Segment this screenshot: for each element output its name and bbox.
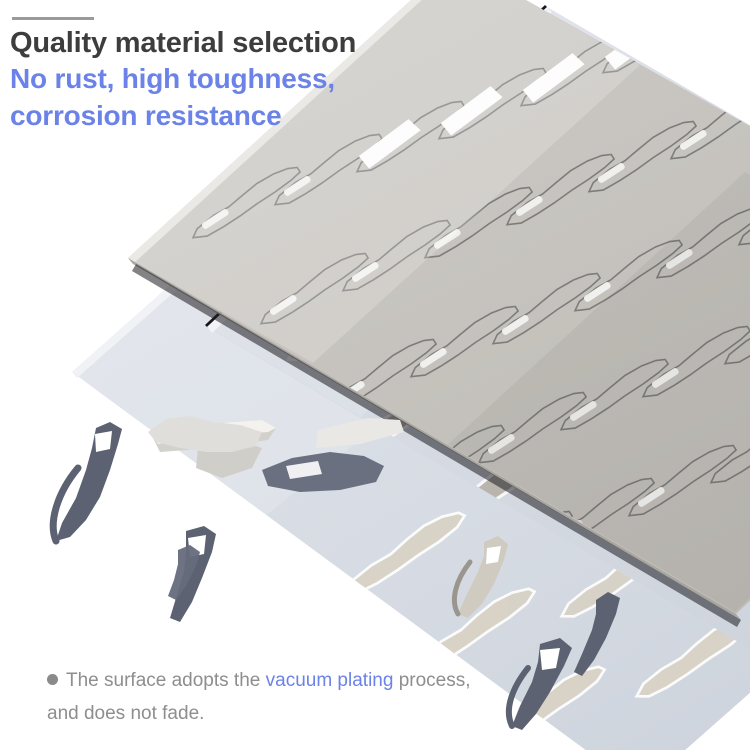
caption-highlight: vacuum plating: [266, 670, 394, 691]
caption-text-before: The surface adopts the: [66, 670, 260, 691]
heading-block: Quality material selection No rust, high…: [10, 26, 480, 135]
feature-caption: The surface adopts the vacuum plating pr…: [47, 664, 477, 731]
page-subtitle-line-1: No rust, high toughness,: [10, 61, 480, 98]
page-title: Quality material selection: [10, 26, 480, 61]
product-feature-image: Quality material selection No rust, high…: [0, 0, 750, 750]
heading-rule: [12, 17, 94, 20]
bullet-icon: [47, 674, 58, 685]
page-subtitle-line-2: corrosion resistance: [10, 98, 480, 135]
